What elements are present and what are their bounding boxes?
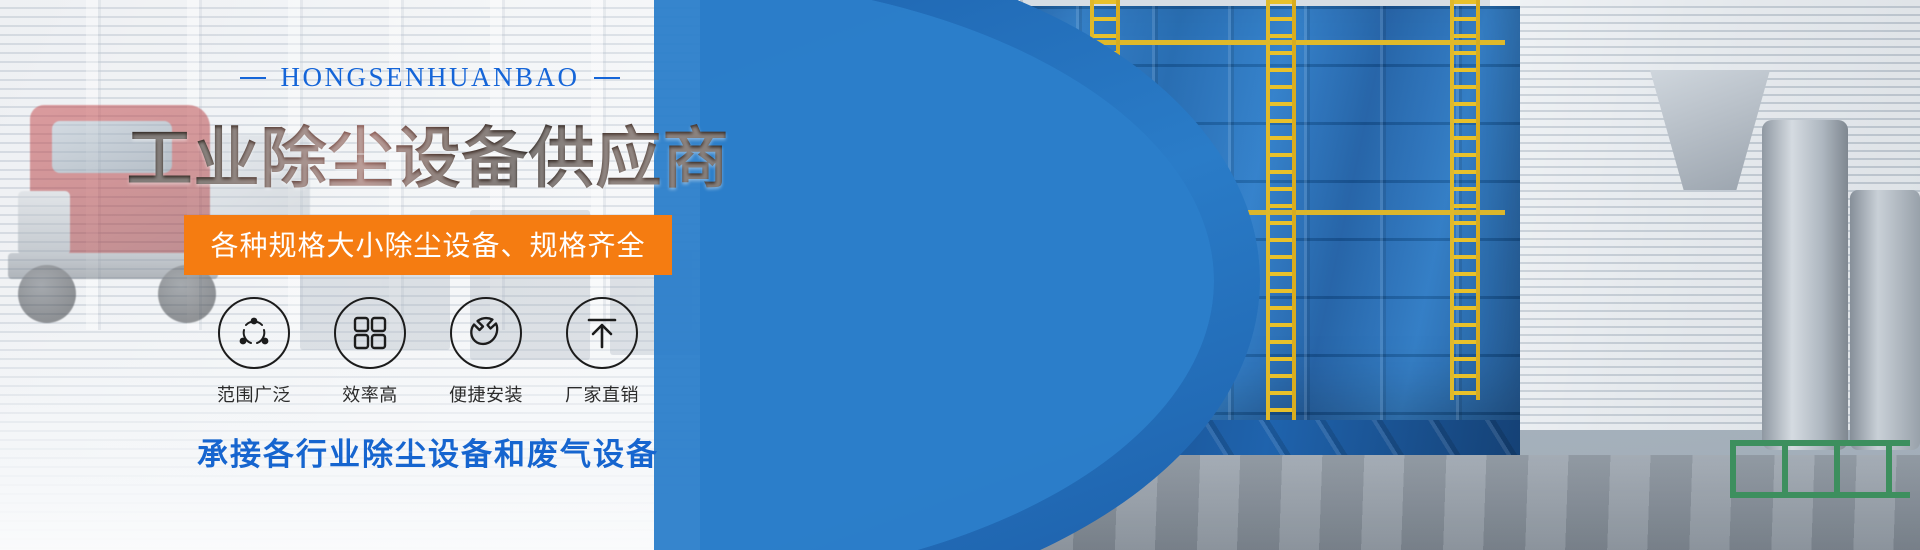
- feature-circle: [450, 297, 522, 369]
- feature-label: 效率高: [342, 381, 398, 407]
- feature-label: 便捷安装: [449, 381, 523, 407]
- feature-item-range[interactable]: 范围广泛: [218, 297, 290, 407]
- feature-circle: [566, 297, 638, 369]
- subtitle-banner: 各种规格大小除尘设备、规格齐全: [184, 215, 671, 275]
- feature-item-installation[interactable]: 便捷安装: [450, 297, 522, 407]
- dash-left-icon: [240, 77, 266, 79]
- brand-eyebrow: HONGSENHUANBAO: [240, 62, 619, 93]
- feature-item-efficiency[interactable]: 效率高: [334, 297, 406, 407]
- grid-four-squares-icon: [353, 316, 387, 350]
- feature-circle: [218, 297, 290, 369]
- industrial-equipment-photo: [790, 0, 1920, 550]
- photo-curve-mask: [790, 0, 1920, 550]
- page-title: 工业除尘设备供应商: [127, 105, 730, 201]
- share-network-icon: [235, 314, 273, 352]
- feature-label: 范围广泛: [217, 381, 291, 407]
- hero-content: HONGSENHUANBAO 工业除尘设备供应商 各种规格大小除尘设备、规格齐全: [0, 0, 820, 550]
- dash-right-icon: [594, 77, 620, 79]
- feature-item-direct-sales[interactable]: 厂家直销: [566, 297, 638, 407]
- brand-pinyin-text: HONGSENHUANBAO: [280, 62, 579, 93]
- feature-list: 范围广泛 效率高: [218, 297, 638, 407]
- feature-label: 厂家直销: [565, 381, 639, 407]
- feature-circle: [334, 297, 406, 369]
- hero-banner: HONGSENHUANBAO 工业除尘设备供应商 各种规格大小除尘设备、规格齐全: [0, 0, 1920, 550]
- wrench-icon: [467, 314, 505, 352]
- upload-arrow-icon: [585, 316, 619, 350]
- hero-tagline: 承接各行业除尘设备和废气设备: [197, 429, 659, 474]
